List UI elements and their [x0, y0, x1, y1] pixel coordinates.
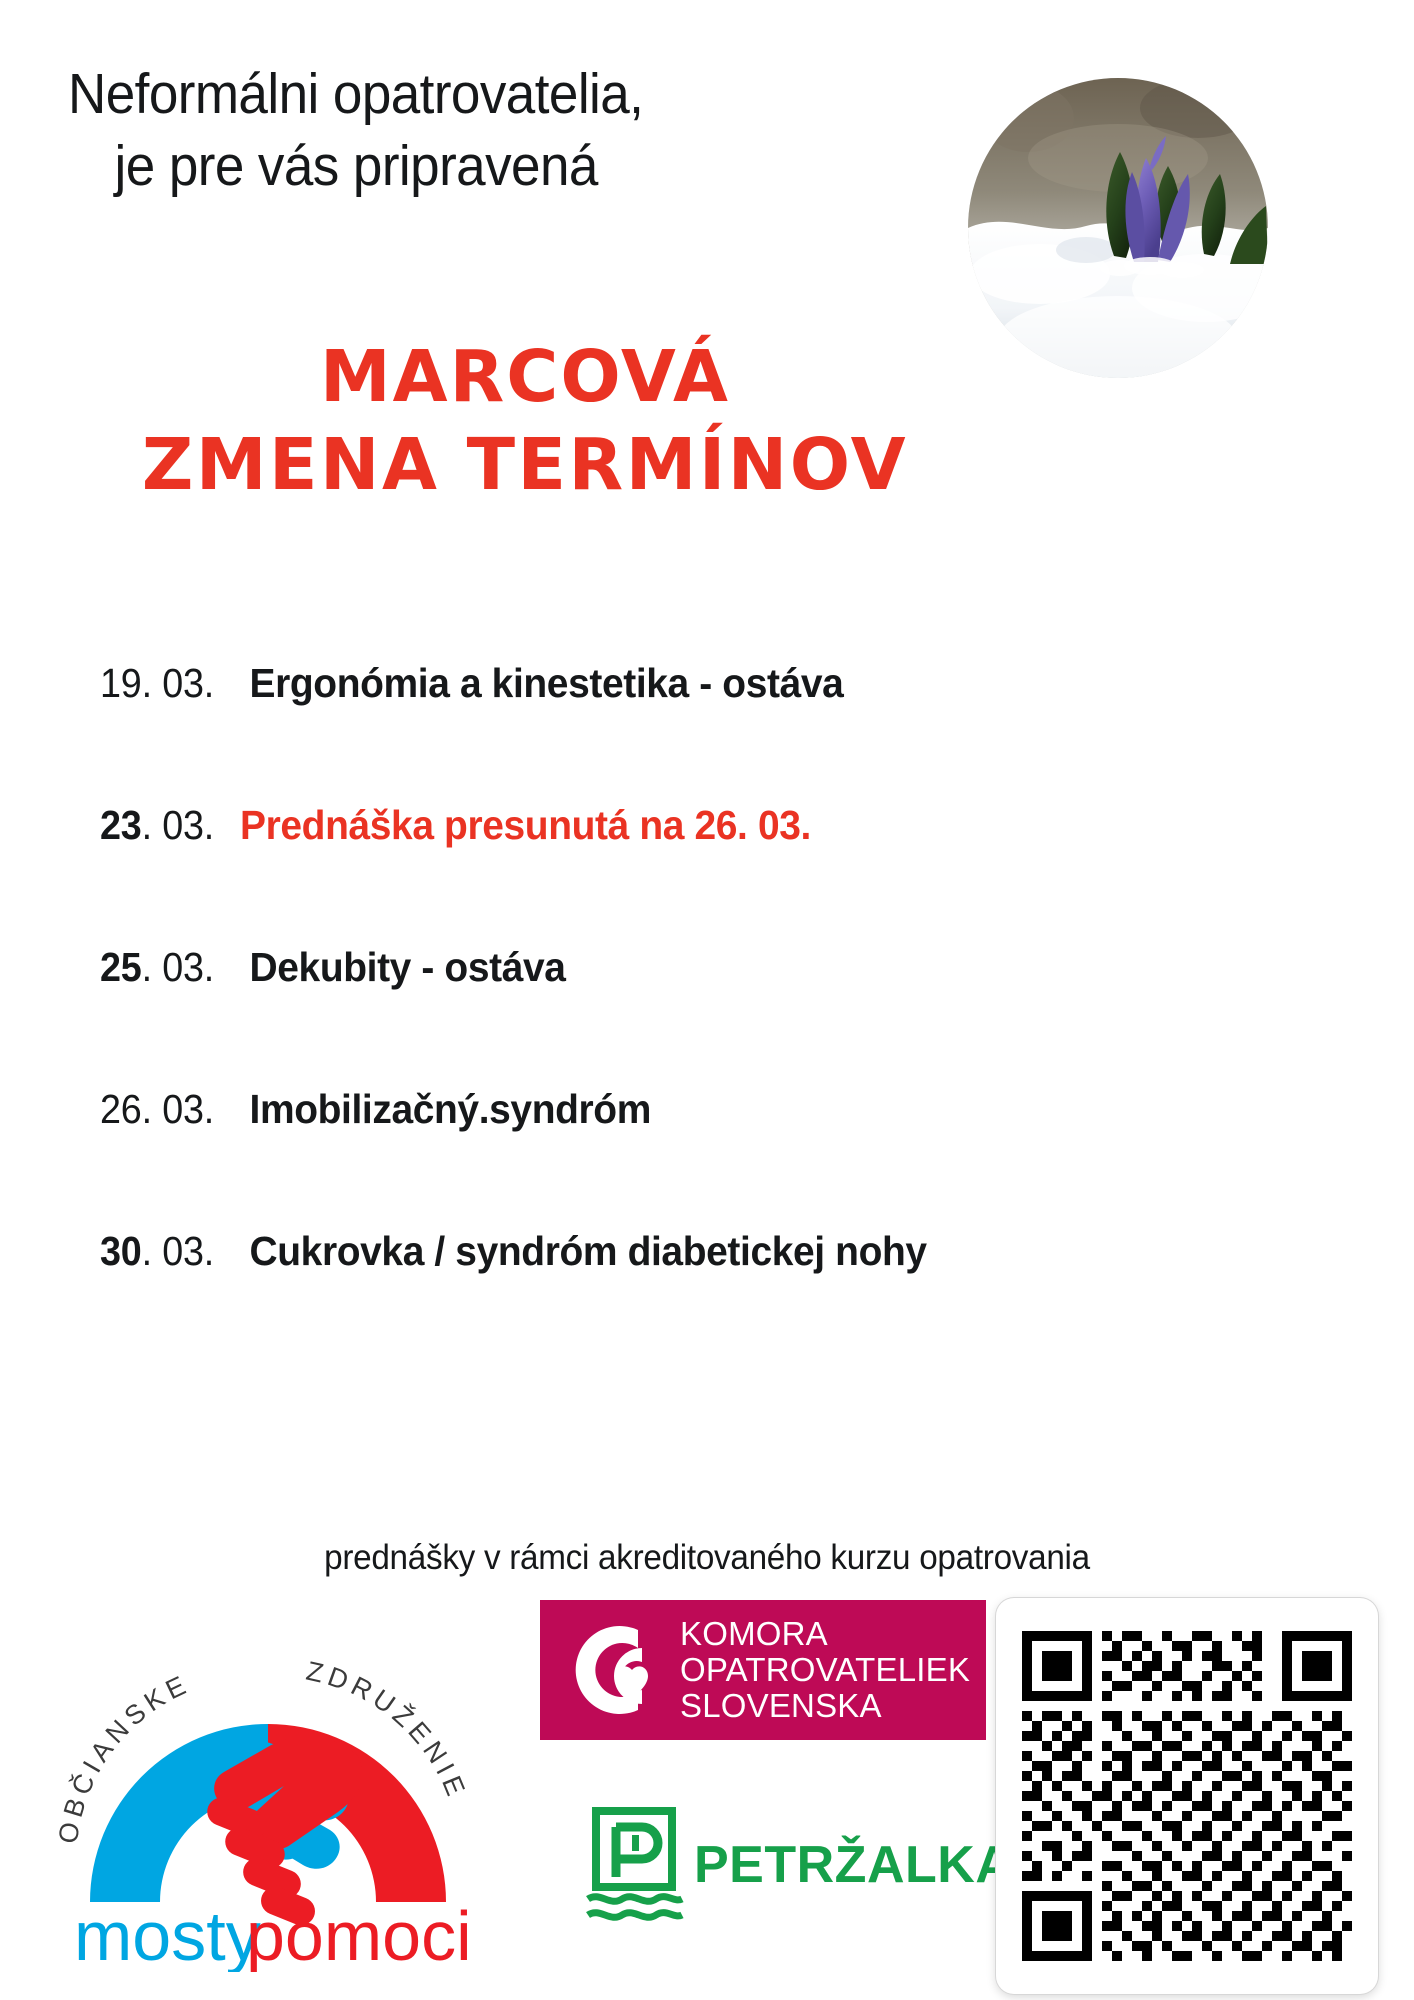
main-title: MARCOVÁ ZMENA TERMÍNOV: [0, 340, 1050, 502]
mostypomoci-logo: OBČIANSKE ZDRUŽENIE mosty pomoci: [38, 1612, 498, 1972]
event-title: Ergonómia a kinestetika - ostáva: [240, 660, 843, 707]
poster-root: Neformálni opatrovatelia, je pre vás pri…: [0, 0, 1414, 2000]
event-title: Cukrovka / syndróm diabetickej nohy: [240, 1228, 927, 1275]
event-title: Dekubity - ostáva: [240, 944, 566, 991]
event-date: 30. 03.: [100, 1228, 214, 1275]
event-title: Imobilizačný.syndróm: [240, 1086, 651, 1133]
main-title-line-1: MARCOVÁ: [0, 340, 1050, 414]
petrzalka-emblem-icon: [580, 1805, 688, 1925]
event-row: 30. 03. Cukrovka / syndróm diabetickej n…: [100, 1228, 1280, 1370]
petrzalka-label: PETRŽALKA: [694, 1835, 1013, 1895]
komora-line-1: KOMORA: [680, 1616, 970, 1652]
footer-note: prednášky v rámci akreditovaného kurzu o…: [35, 1538, 1378, 1578]
event-row: 26. 03. Imobilizačný.syndróm: [100, 1086, 1280, 1228]
komora-line-2: OPATROVATELIEK: [680, 1652, 970, 1688]
komora-text-block: KOMORA OPATROVATELIEK SLOVENSKA: [680, 1616, 970, 1724]
headline-block: Neformálni opatrovatelia, je pre vás pri…: [68, 58, 988, 202]
event-list: 19. 03. Ergonómia a kinestetika - ostáva…: [100, 660, 1280, 1370]
headline-line-1: Neformálni opatrovatelia,: [68, 58, 924, 130]
main-title-line-2: ZMENA TERMÍNOV: [0, 428, 1050, 502]
event-date: 23. 03.: [100, 802, 214, 849]
mosty-wordmark-red: pomoci: [246, 1897, 472, 1972]
event-row: 19. 03. Ergonómia a kinestetika - ostáva: [100, 660, 1280, 802]
event-title: Prednáška presunutá na 26. 03.: [240, 802, 811, 849]
event-date: 26. 03.: [100, 1086, 214, 1133]
petrzalka-logo: PETRŽALKA: [580, 1800, 980, 1930]
komora-heart-swirl-icon: [556, 1614, 668, 1726]
mosty-wordmark-blue: mosty: [74, 1897, 261, 1972]
event-date: 25. 03.: [100, 944, 214, 991]
event-row: 23. 03. Prednáška presunutá na 26. 03.: [100, 802, 1280, 944]
komora-line-3: SLOVENSKA: [680, 1688, 970, 1724]
headline-line-2: je pre vás pripravená: [68, 130, 924, 202]
qr-code-card[interactable]: [996, 1598, 1378, 1994]
event-row: 25. 03. Dekubity - ostáva: [100, 944, 1280, 1086]
event-date: 19. 03.: [100, 660, 214, 707]
crocus-photo: [968, 78, 1268, 378]
qr-code: [1022, 1624, 1352, 1968]
komora-logo: KOMORA OPATROVATELIEK SLOVENSKA: [540, 1600, 986, 1740]
